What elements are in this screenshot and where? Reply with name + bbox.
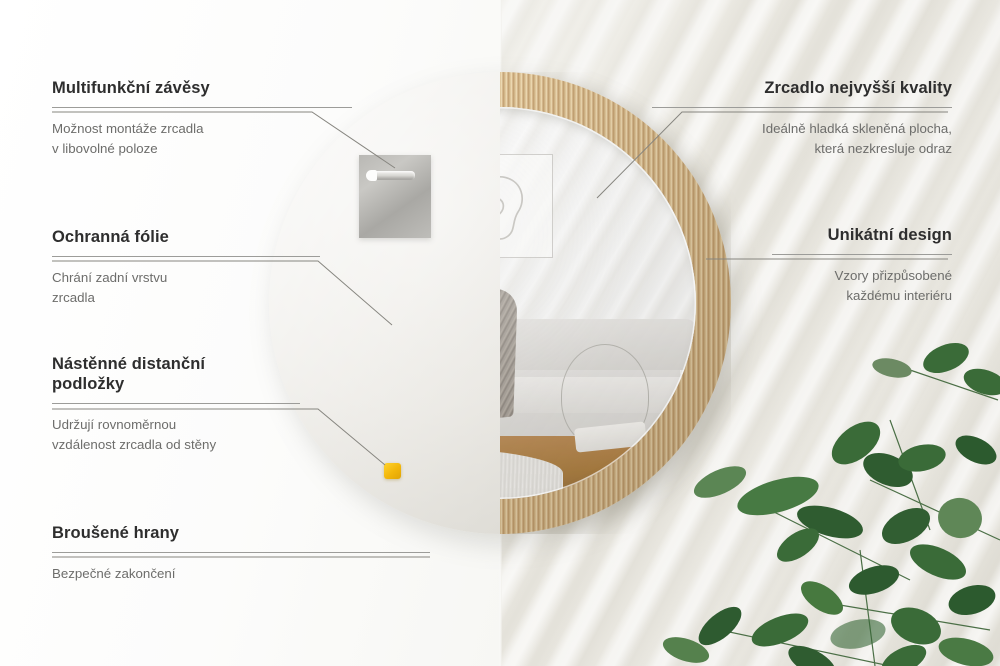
callout-description: Udržují rovnoměrnou vzdálenost zrcadla o… (52, 415, 300, 454)
callout-multifunkcni-zavesy: Multifunkční závěsy Možnost montáže zrca… (52, 78, 352, 158)
callout-ochranna-folie: Ochranná fólie Chrání zadní vrstvu zrcad… (52, 227, 320, 307)
callout-description: Chrání zadní vrstvu zrcadla (52, 268, 320, 307)
callout-unikatni-design: Unikátní design Vzory přizpůsobené každé… (772, 225, 952, 305)
callout-zrcadlo-nejvyssi-kvality: Zrcadlo nejvyšší kvality Ideálně hladká … (652, 78, 952, 158)
callout-description: Bezpečné zakončení (52, 564, 430, 584)
wall-spacer-pad-icon (384, 463, 401, 479)
callout-title: Unikátní design (772, 225, 952, 245)
callout-nastenne-distancni-podlozky: Nástěnné distanční podložky Udržují rovn… (52, 354, 300, 455)
callout-description: Vzory přizpůsobené každému interiéru (772, 266, 952, 305)
callout-description: Možnost montáže zrcadla v libovolné polo… (52, 119, 352, 158)
callout-rule (652, 107, 952, 108)
callout-rule (772, 254, 952, 255)
foliage-decor (660, 330, 1000, 666)
callout-title: Zrcadlo nejvyšší kvality (652, 78, 952, 98)
hanger-bracket-icon (359, 155, 431, 238)
callout-rule (52, 256, 320, 257)
callout-description: Ideálně hladká skleněná plocha, která ne… (652, 119, 952, 158)
callout-brousene-hrany: Broušené hrany Bezpečné zakončení (52, 523, 430, 584)
callout-rule (52, 403, 300, 404)
callout-title: Nástěnné distanční podložky (52, 354, 300, 394)
callout-title: Broušené hrany (52, 523, 430, 543)
callout-rule (52, 552, 430, 553)
infographic-stage: Multifunkční závěsy Možnost montáže zrca… (0, 0, 1000, 666)
callout-rule (52, 107, 352, 108)
callout-title: Ochranná fólie (52, 227, 320, 247)
callout-title: Multifunkční závěsy (52, 78, 352, 98)
hanger-keyhole-slot (373, 171, 415, 180)
